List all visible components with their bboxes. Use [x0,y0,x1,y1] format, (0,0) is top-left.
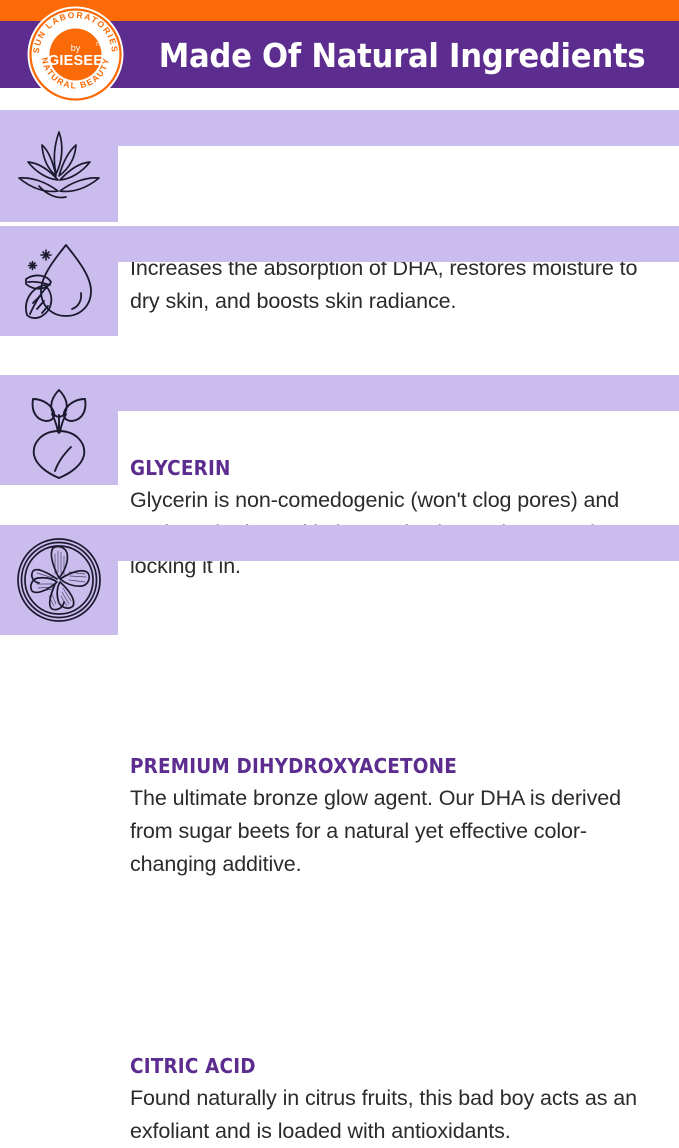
aloe-plant-icon [0,110,118,222]
ingredient-title: PREMIUM DIHYDROXYACETONE [130,754,457,778]
ingredient-row-dihydroxyacetone: PREMIUM DIHYDROXYACETONE The ultimate br… [0,375,679,519]
water-droplet-leaves-icon [0,226,118,336]
ingredient-row-citric-acid: CITRIC ACID Found naturally in citrus fr… [0,525,679,669]
sun-laboratories-giesee-badge: • SUN LABORATORIES • • NATURAL BEAUTY • … [25,4,126,105]
ingredient-body: The ultimate bronze glow agent. Our DHA … [130,782,655,881]
logo-giesee-text: GIESEE [48,53,103,69]
citrus-slice-icon [0,525,118,635]
logo-trademark-text: TM [95,42,102,48]
ingredient-row-aloe-vera: ALOE VERA Increases the absorption of DH… [0,110,679,222]
ingredient-row-glycerin: GLYCERIN Glycerin is non-comedogenic (wo… [0,226,679,370]
sugar-beet-icon [0,375,118,485]
ingredient-title: CITRIC ACID [130,1054,256,1078]
ingredient-body: Found naturally in citrus fruits, this b… [130,1082,655,1148]
logo-by-text: by [71,43,81,53]
page-title: Made Of Natural Ingredients [151,25,653,85]
